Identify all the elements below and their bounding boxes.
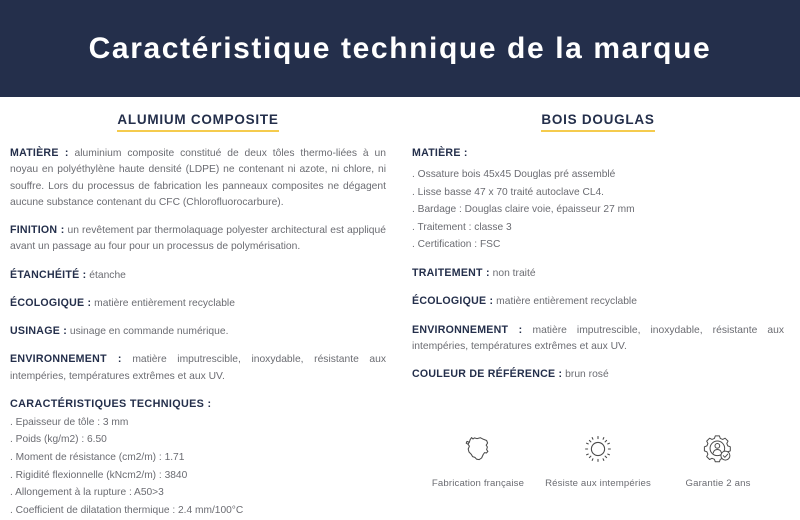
list-item: Bardage : Douglas claire voie, épaisseur… xyxy=(412,201,784,219)
left-column-heading: ALUMIUM COMPOSITE xyxy=(10,111,386,132)
column-alumium-composite: ALUMIUM COMPOSITE MATIÈRE : aluminium co… xyxy=(0,111,400,520)
badge-resiste-intemperies-label: Résiste aux intempéries xyxy=(539,478,657,489)
spec-ecologique-text: matière entièrement recyclable xyxy=(94,298,235,309)
list-item: Poids (kg/m2) : 6.50 xyxy=(10,431,386,449)
spec-ecologique: ÉCOLOGIQUE : matière entièrement recycla… xyxy=(10,295,386,312)
spec-etancheite-text: étanche xyxy=(89,270,126,281)
tech-characteristics-title: CARACTÉRISTIQUES TECHNIQUES : xyxy=(10,398,386,410)
list-item: Moment de résistance (cm2/m) : 1.71 xyxy=(10,449,386,467)
right-column-heading: BOIS DOUGLAS xyxy=(412,111,784,132)
spec-traitement-text: non traité xyxy=(493,268,536,279)
spec-usinage: USINAGE : usinage en commande numérique. xyxy=(10,323,386,340)
spec-usinage-label: USINAGE : xyxy=(10,325,67,337)
list-item: Epaisseur de tôle : 3 mm xyxy=(10,414,386,432)
spec-couleur-reference-label: COULEUR DE RÉFÉRENCE : xyxy=(412,368,562,380)
spec-matiere-label: MATIÈRE : xyxy=(10,147,69,159)
badge-resiste-intemperies: Résiste aux intempéries xyxy=(539,429,657,489)
warranty-gear-icon xyxy=(659,429,777,469)
spec-environnement-bois-label: ENVIRONNEMENT : xyxy=(412,324,522,336)
badge-fabrication-francaise: Fabrication française xyxy=(419,429,537,489)
tech-characteristics-list: Epaisseur de tôle : 3 mm Poids (kg/m2) :… xyxy=(10,414,386,520)
spec-ecologique-bois: ÉCOLOGIQUE : matière entièrement recycla… xyxy=(412,293,784,310)
spec-etancheite-label: ÉTANCHÉITÉ : xyxy=(10,269,86,281)
spec-couleur-reference-text: brun rosé xyxy=(565,369,609,380)
badge-garantie-label: Garantie 2 ans xyxy=(659,478,777,489)
column-bois-douglas: BOIS DOUGLAS MATIÈRE : Ossature bois 45x… xyxy=(400,111,800,520)
badge-row: Fabrication française xyxy=(412,429,784,489)
spec-finition-text: un revêtement par thermolaquage polyeste… xyxy=(10,225,386,252)
spec-finition-label: FINITION : xyxy=(10,224,64,236)
spec-environnement: ENVIRONNEMENT : matière imputrescible, i… xyxy=(10,351,386,385)
list-item: Coefficient de dilatation thermique : 2.… xyxy=(10,502,386,520)
spec-matiere-bois: MATIÈRE : xyxy=(412,145,784,162)
spec-traitement-label: TRAITEMENT : xyxy=(412,267,490,279)
page-header: Caractéristique technique de la marque xyxy=(0,0,800,97)
spec-usinage-text: usinage en commande numérique. xyxy=(70,326,229,337)
spec-matiere-bois-label: MATIÈRE : xyxy=(412,147,468,159)
list-item: Ossature bois 45x45 Douglas pré assemblé xyxy=(412,166,784,184)
list-item: Rigidité flexionnelle (kNcm2/m) : 3840 xyxy=(10,467,386,485)
spec-ecologique-bois-label: ÉCOLOGIQUE : xyxy=(412,295,493,307)
right-column-heading-label: BOIS DOUGLAS xyxy=(541,112,654,132)
spec-etancheite: ÉTANCHÉITÉ : étanche xyxy=(10,267,386,284)
spec-environnement-bois: ENVIRONNEMENT : matière imputrescible, i… xyxy=(412,322,784,356)
spec-ecologique-bois-text: matière entièrement recyclable xyxy=(496,296,637,307)
spec-environnement-label: ENVIRONNEMENT : xyxy=(10,353,122,365)
list-item: Certification : FSC xyxy=(412,236,784,254)
spec-finition: FINITION : un revêtement par thermolaqua… xyxy=(10,222,386,256)
spec-traitement: TRAITEMENT : non traité xyxy=(412,265,784,282)
spec-couleur-reference: COULEUR DE RÉFÉRENCE : brun rosé xyxy=(412,366,784,383)
page-title: Caractéristique technique de la marque xyxy=(89,32,712,66)
spec-matiere: MATIÈRE : aluminium composite constitué … xyxy=(10,145,386,211)
badge-garantie: Garantie 2 ans xyxy=(659,429,777,489)
list-item: Allongement à la rupture : A50>3 xyxy=(10,484,386,502)
spec-ecologique-label: ÉCOLOGIQUE : xyxy=(10,297,91,309)
france-map-icon xyxy=(419,429,537,469)
matiere-bois-list: Ossature bois 45x45 Douglas pré assemblé… xyxy=(412,166,784,254)
list-item: Traitement : classe 3 xyxy=(412,219,784,237)
left-column-heading-label: ALUMIUM COMPOSITE xyxy=(117,112,278,132)
badge-fabrication-francaise-label: Fabrication française xyxy=(419,478,537,489)
list-item: Lisse basse 47 x 70 traité autoclave CL4… xyxy=(412,184,784,202)
sun-icon xyxy=(539,429,657,469)
content-columns: ALUMIUM COMPOSITE MATIÈRE : aluminium co… xyxy=(0,97,800,520)
